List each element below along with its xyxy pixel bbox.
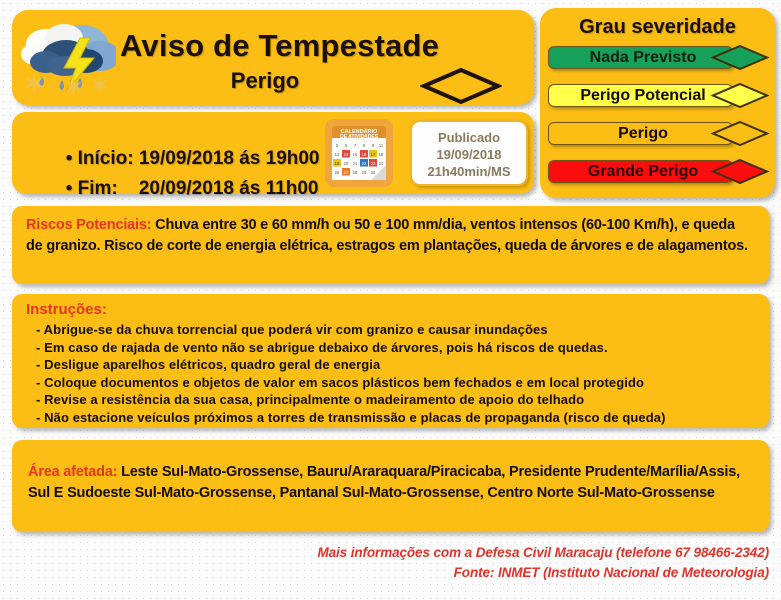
page-subtitle: Perigo xyxy=(120,68,410,94)
svg-text:28: 28 xyxy=(353,170,358,175)
affected-area-text: Área afetada: Leste Sul-Mato-Grossense, … xyxy=(28,462,753,504)
published-label: Publicado xyxy=(412,129,526,146)
published-box: Publicado 19/09/2018 21h40min/MS xyxy=(410,120,528,186)
alert-poster: Aviso de Tempestade Perigo Grau severida… xyxy=(0,0,781,600)
severity-label-grande-perigo: Grande Perigo xyxy=(548,160,738,183)
svg-text:29: 29 xyxy=(362,170,367,175)
severity-label-perigo-potencial: Perigo Potencial xyxy=(548,84,738,107)
severity-legend-card: Grau severidade Nada Previsto Perigo Pot… xyxy=(540,8,775,198)
svg-text:27: 27 xyxy=(344,170,349,175)
svg-text:23: 23 xyxy=(371,161,376,166)
calendar-icon: CALENDÁRIO DE ATIVIDADES 567 8911 12 14 … xyxy=(324,118,394,188)
affected-area-label: Área afetada: xyxy=(28,464,117,480)
severity-label-nada-previsto: Nada Previsto xyxy=(548,46,738,69)
svg-text:22: 22 xyxy=(362,161,367,166)
severity-level-perigo-potencial[interactable]: Perigo Potencial xyxy=(548,82,770,109)
severity-legend-title: Grau severidade xyxy=(540,16,775,39)
svg-text:14: 14 xyxy=(344,152,349,157)
alert-end-label: • Fim: xyxy=(66,178,118,199)
svg-text:24: 24 xyxy=(379,161,384,166)
svg-text:12: 12 xyxy=(335,152,340,157)
svg-text:20: 20 xyxy=(344,161,349,166)
instruction-item: - Em caso de rajada de vento não se abri… xyxy=(26,339,755,357)
svg-text:21: 21 xyxy=(353,161,358,166)
published-date: 19/09/2018 xyxy=(412,146,526,163)
instruction-item: - Revise a resistência da sua casa, prin… xyxy=(26,391,755,409)
page-title: Aviso de Tempestade xyxy=(120,28,520,64)
svg-text:11: 11 xyxy=(379,143,384,148)
published-time: 21h40min/MS xyxy=(412,163,526,180)
severity-label-perigo: Perigo xyxy=(548,122,738,145)
affected-area-body: Leste Sul-Mato-Grossense, Bauru/Araraqua… xyxy=(28,464,740,501)
footer-source: Fonte: INMET (Instituto Nacional de Mete… xyxy=(0,563,769,583)
severity-diamond-icon xyxy=(420,66,502,106)
svg-text:16: 16 xyxy=(362,152,367,157)
dates-card: • Início: 19/09/2018 ás 19h00 • Fim: 20/… xyxy=(12,112,534,194)
svg-text:17: 17 xyxy=(371,152,376,157)
instructions-title: Instruções: xyxy=(26,301,755,318)
instruction-item: - Abrigue-se da chuva torrencial que pod… xyxy=(26,321,755,339)
potential-risks-card: Riscos Potenciais: Chuva entre 30 e 60 m… xyxy=(12,206,769,284)
svg-text:18: 18 xyxy=(379,152,384,157)
storm-cloud-lightning-icon xyxy=(20,14,116,102)
svg-text:15: 15 xyxy=(353,152,358,157)
instruction-item: - Desligue aparelhos elétricos, quadro g… xyxy=(26,356,755,374)
severity-level-perigo[interactable]: Perigo xyxy=(548,120,770,147)
instructions-card: Instruções: - Abrigue-se da chuva torren… xyxy=(12,294,769,428)
svg-text:26: 26 xyxy=(335,170,340,175)
potential-risks-text: Riscos Potenciais: Chuva entre 30 e 60 m… xyxy=(26,215,755,257)
svg-text:19: 19 xyxy=(335,161,340,166)
footer: Mais informações com a Defesa Civil Mara… xyxy=(0,543,769,583)
svg-text:30: 30 xyxy=(371,170,376,175)
severity-level-grande-perigo[interactable]: Grande Perigo xyxy=(548,158,770,185)
potential-risks-label: Riscos Potenciais: xyxy=(26,217,151,233)
affected-area-card: Área afetada: Leste Sul-Mato-Grossense, … xyxy=(12,440,769,532)
severity-level-nada-previsto[interactable]: Nada Previsto xyxy=(548,44,770,71)
title-card: Aviso de Tempestade Perigo xyxy=(12,10,534,105)
instruction-item: - Não estacione veículos próximos a torr… xyxy=(26,409,755,427)
svg-text:DE ATIVIDADES: DE ATIVIDADES xyxy=(340,134,379,140)
instruction-item: - Coloque documentos e objetos de valor … xyxy=(26,374,755,392)
alert-end-value: 20/09/2018 ás 11h00 xyxy=(139,178,319,199)
footer-contact: Mais informações com a Defesa Civil Mara… xyxy=(0,543,769,563)
